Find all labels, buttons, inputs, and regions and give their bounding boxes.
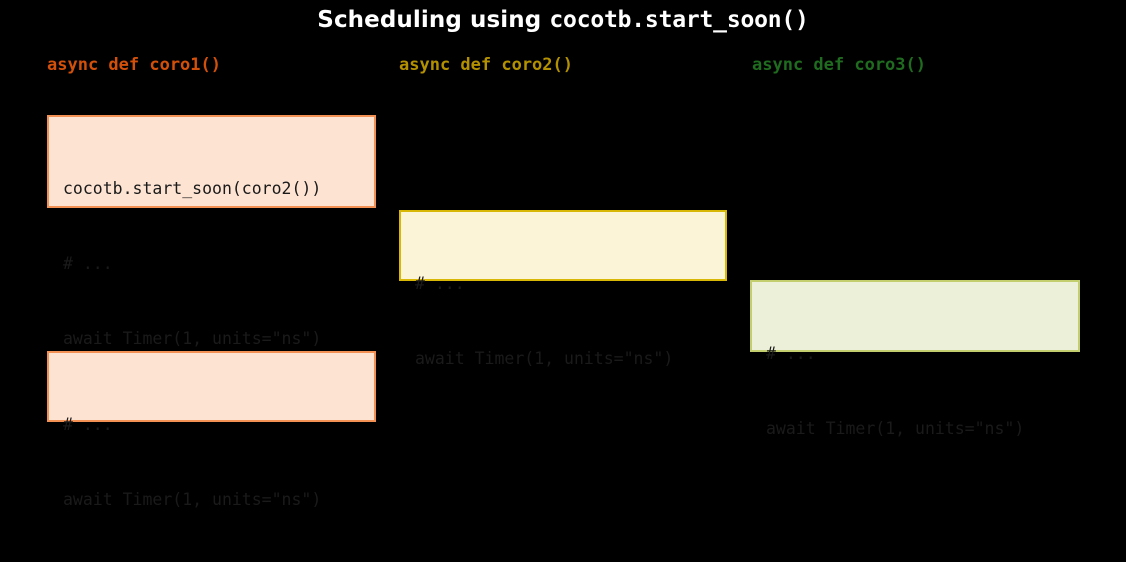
code-line: # ...	[766, 341, 1066, 366]
column-header-coro3: async def coro3()	[752, 55, 926, 75]
code-line: # ...	[63, 251, 362, 276]
page-title-mono: cocotb.start_soon()	[549, 7, 808, 33]
diagram-canvas: Scheduling using cocotb.start_soon() asy…	[0, 0, 1126, 423]
code-line: await Timer(1, units="ns")	[63, 487, 362, 512]
code-line: await Timer(1, units="ns")	[766, 416, 1066, 441]
code-block-coro2: # ... await Timer(1, units="ns")	[399, 210, 727, 281]
column-header-coro1: async def coro1()	[47, 55, 221, 75]
code-block-coro3: # ... await Timer(1, units="ns")	[750, 280, 1080, 352]
code-block-coro1-second: # ... await Timer(1, units="ns")	[47, 351, 376, 422]
page-title: Scheduling using cocotb.start_soon()	[0, 7, 1126, 33]
page-title-plain: Scheduling using	[317, 7, 549, 33]
code-line: # ...	[415, 271, 713, 296]
code-block-coro1-first: cocotb.start_soon(coro2()) # ... await T…	[47, 115, 376, 208]
code-line: await Timer(1, units="ns")	[415, 346, 713, 371]
code-line: # ...	[63, 412, 362, 437]
code-line: await Timer(1, units="ns")	[63, 326, 362, 351]
code-line: cocotb.start_soon(coro2())	[63, 176, 362, 201]
column-header-coro2: async def coro2()	[399, 55, 573, 75]
